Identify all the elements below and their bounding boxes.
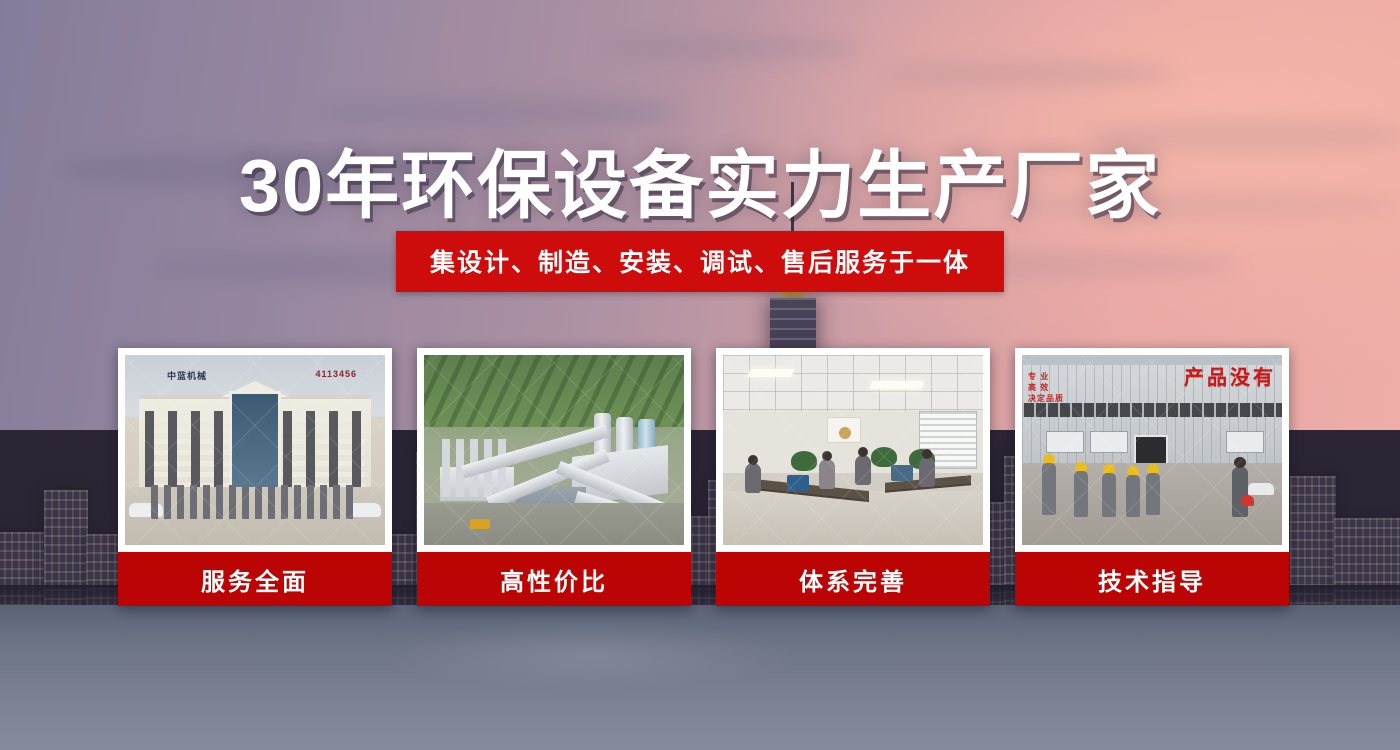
subtitle-bar: 集设计、制造、安装、调试、售后服务于一体 (396, 231, 1004, 292)
card-photo-office-interior (723, 355, 983, 545)
building-sign-text: 中蓝机械 (167, 369, 207, 382)
page-title: 30年环保设备实力生产厂家 (0, 126, 1400, 233)
card-photo-workshop-training: 产品没有 专 业高 效决定品质成就辉煌 (1022, 355, 1282, 545)
feature-card[interactable]: 中蓝机械 4113456 服务全面 (118, 348, 392, 606)
feature-card[interactable]: 体系完善 (716, 348, 990, 606)
feature-card-list: 中蓝机械 4113456 服务全面 高性价比 (118, 348, 1282, 606)
card-caption: 高性价比 (417, 552, 691, 606)
river-water (0, 605, 1400, 750)
feature-card[interactable]: 高性价比 (417, 348, 691, 606)
card-photo-plant-aerial (424, 355, 684, 545)
water-reflection (380, 620, 800, 690)
building-phone-text: 4113456 (315, 369, 357, 379)
hero-banner: 30年环保设备实力生产厂家 集设计、制造、安装、调试、售后服务于一体 中蓝机械 … (0, 0, 1400, 750)
card-caption: 体系完善 (716, 552, 990, 606)
card-photo-office-building: 中蓝机械 4113456 (125, 355, 385, 545)
factory-slogan-large: 产品没有 (1184, 361, 1276, 390)
cloud (600, 36, 860, 60)
cloud (320, 96, 680, 130)
cloud (880, 60, 1180, 88)
feature-card[interactable]: 产品没有 专 业高 效决定品质成就辉煌 技术指导 (1015, 348, 1289, 606)
card-caption: 技术指导 (1015, 552, 1289, 606)
card-caption: 服务全面 (118, 552, 392, 606)
